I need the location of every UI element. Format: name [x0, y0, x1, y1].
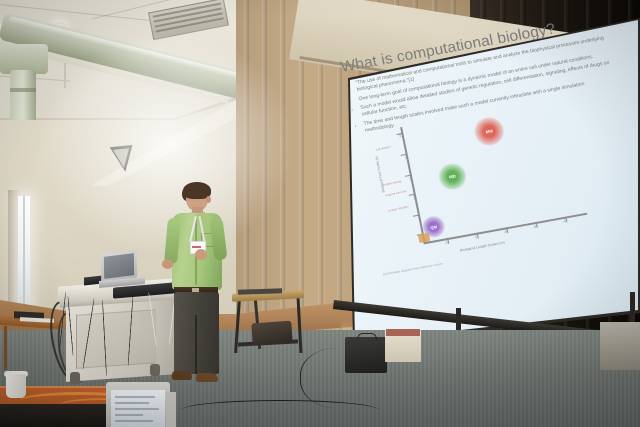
chart-point-label: MM — [485, 128, 493, 134]
slide-content: What is computational biology? “The use … — [322, 0, 640, 309]
presenter — [168, 185, 238, 390]
window-mullion — [23, 196, 25, 314]
chart-point-label: QM — [430, 224, 438, 230]
chart-y-tick-label: 10⁻¹² — [417, 214, 422, 221]
chart-y-annotation: protein vibration — [388, 204, 409, 212]
triangle-wall-art-inner — [113, 148, 131, 169]
chart-y-tick-label: 10⁻⁹ — [412, 194, 417, 201]
audience-laptop-hinge — [166, 392, 176, 427]
shoe — [196, 373, 218, 382]
left-table-leg — [4, 326, 7, 370]
chart-x-tick-label: 10⁻² — [562, 217, 568, 224]
audience-laptop-screen — [111, 390, 165, 427]
photo-scene: What is computational biology? “The use … — [0, 0, 640, 427]
shoe — [172, 371, 192, 380]
briefcase-handle — [357, 333, 377, 341]
bag-under-table — [251, 321, 292, 346]
name-badge-text-line — [192, 246, 201, 248]
trouser-seam — [195, 315, 197, 374]
chart-point-label: MD — [449, 174, 456, 180]
paper-cup — [6, 374, 26, 398]
chart-y-tick-label: 10⁻³ — [403, 154, 408, 160]
chart-y-tick-label: 10⁻⁶ — [408, 175, 413, 182]
left-hand — [162, 259, 173, 269]
right-hand — [195, 249, 207, 260]
storage-box-lid — [386, 329, 420, 336]
chart-point-mm: MM — [472, 115, 506, 148]
chart-y-annotation: enzyme turnover — [385, 189, 407, 197]
grey-bin — [600, 322, 640, 370]
floor-cable — [300, 348, 381, 408]
av-cart-caster — [70, 372, 80, 384]
chart-point-md: MD — [437, 161, 469, 191]
chart-y-axis-label: Biological Time Scales (s) — [374, 156, 385, 193]
chart-y-tick-label: 10⁰ — [398, 133, 403, 138]
chart-y-annotation: cell division — [376, 145, 391, 152]
presenter-laptop-display — [104, 253, 134, 279]
chart-x-axis-label: Biological Length Scales (m) — [459, 241, 505, 253]
av-cart-caster — [150, 364, 160, 376]
ear — [206, 196, 211, 203]
chart-y-annotation: protein folding — [383, 179, 402, 187]
duct-band — [10, 88, 36, 92]
